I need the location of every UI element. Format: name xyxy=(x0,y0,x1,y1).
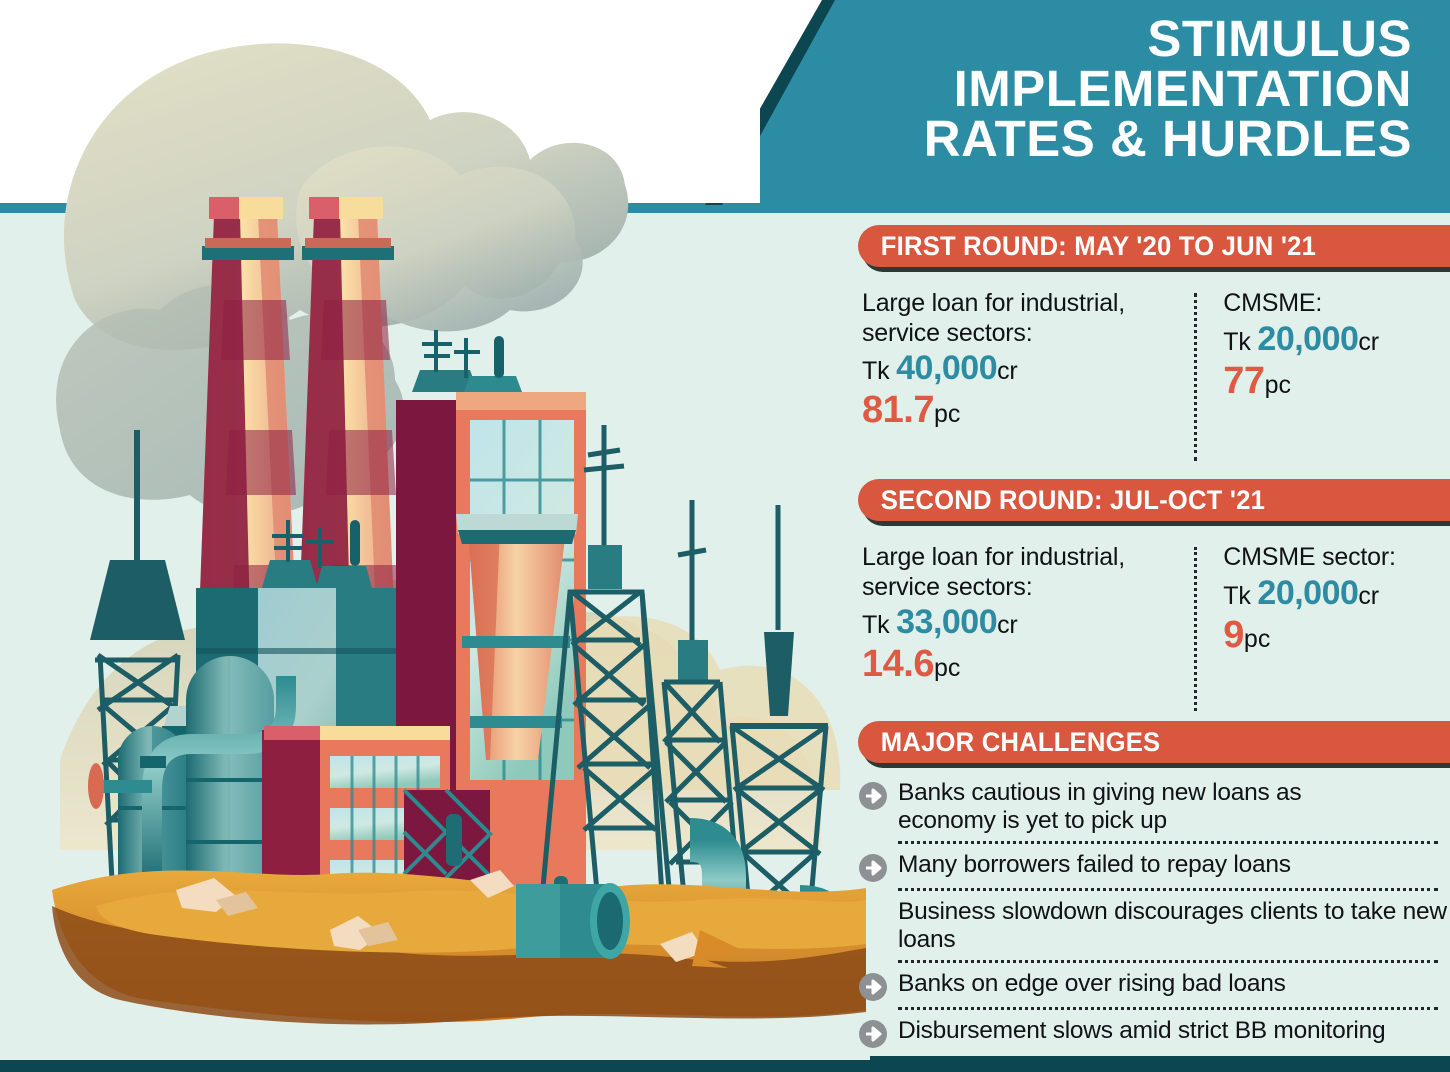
large-loan-label: Large loan for industrial,service sector… xyxy=(862,543,1161,602)
arrow-right-circle-icon xyxy=(858,849,898,883)
ground xyxy=(52,870,866,1024)
list-item: Banks cautious in giving new loans as ec… xyxy=(858,777,1450,836)
amount-value: 20,000 xyxy=(1257,320,1358,358)
list-item: Business slowdown discourages clients to… xyxy=(858,896,1450,955)
amount-unit: cr xyxy=(1358,328,1378,356)
percent-value: 81.7 xyxy=(862,389,934,431)
second-round-large-loan: Large loan for industrial,service sector… xyxy=(858,543,1161,719)
currency-label: Tk xyxy=(1223,582,1250,610)
cmsme-amount: Tk 20,000cr xyxy=(1223,573,1450,614)
amount-unit: cr xyxy=(1358,582,1378,610)
list-divider xyxy=(898,1007,1438,1010)
percent-value: 9 xyxy=(1223,614,1244,656)
laid-pipe xyxy=(516,883,630,959)
large-loan-amount: Tk 40,000cr xyxy=(862,348,1161,389)
cmsme-amount: Tk 20,000cr xyxy=(1223,319,1450,360)
section-bar-second-round: SECOND ROUND: JUL-OCT '21 xyxy=(858,479,1450,521)
cmsme-label: CMSME sector: xyxy=(1223,543,1450,573)
challenges-list: Banks cautious in giving new loans as ec… xyxy=(858,777,1450,1049)
section-bar-label: SECOND ROUND: JUL-OCT '21 xyxy=(858,485,1265,516)
percent-value: 77 xyxy=(1223,360,1264,402)
cmsme-percent: 77pc xyxy=(1223,360,1450,404)
percent-unit: pc xyxy=(934,400,960,428)
arrow-placeholder xyxy=(858,896,898,900)
currency-label: Tk xyxy=(862,611,889,639)
large-loan-label: Large loan for industrial,service sector… xyxy=(862,289,1161,348)
section-bar-first-round: FIRST ROUND: MAY '20 TO JUN '21 xyxy=(858,225,1450,267)
amount-unit: cr xyxy=(997,611,1017,639)
list-divider xyxy=(898,960,1438,963)
section-bar-major-challenges: MAJOR CHALLENGES xyxy=(858,721,1450,763)
cmsme-label: CMSME: xyxy=(1223,289,1450,319)
second-round-cmsme: CMSME sector: Tk 20,000cr 9pc xyxy=(1161,543,1450,719)
second-round-body: Large loan for industrial,service sector… xyxy=(858,543,1450,719)
list-item-text: Business slowdown discourages clients to… xyxy=(898,896,1450,955)
amount-value: 33,000 xyxy=(896,603,997,641)
arrow-right-circle-icon xyxy=(858,1015,898,1049)
first-round-large-loan: Large loan for industrial,service sector… xyxy=(858,289,1161,469)
data-panel: FIRST ROUND: MAY '20 TO JUN '21 Large lo… xyxy=(858,225,1450,1045)
list-item-text: Many borrowers failed to repay loans xyxy=(898,849,1291,879)
list-item: Banks on edge over rising bad loans xyxy=(858,968,1450,1002)
section-bar-label: MAJOR CHALLENGES xyxy=(858,727,1160,758)
infographic-page: STIMULUS IMPLEMENTATION RATES & HURDLES … xyxy=(0,0,1450,1072)
arrow-right-circle-icon xyxy=(858,968,898,1002)
amount-value: 20,000 xyxy=(1257,574,1358,612)
list-item: Disbursement slows amid strict BB monito… xyxy=(858,1015,1450,1049)
amount-value: 40,000 xyxy=(896,349,997,387)
arrow-right-circle-icon xyxy=(858,777,898,811)
percent-unit: pc xyxy=(934,654,960,682)
section-bar-label: FIRST ROUND: MAY '20 TO JUN '21 xyxy=(858,231,1316,262)
list-item-text: Disbursement slows amid strict BB monito… xyxy=(898,1015,1385,1045)
list-divider xyxy=(898,841,1438,844)
large-loan-amount: Tk 33,000cr xyxy=(862,602,1161,643)
percent-unit: pc xyxy=(1265,371,1291,399)
first-round-cmsme: CMSME: Tk 20,000cr 77pc xyxy=(1161,289,1450,469)
currency-label: Tk xyxy=(862,357,889,385)
percent-unit: pc xyxy=(1244,625,1270,653)
currency-label: Tk xyxy=(1223,328,1250,356)
large-loan-percent: 81.7pc xyxy=(862,389,1161,433)
first-round-body: Large loan for industrial,service sector… xyxy=(858,289,1450,469)
list-item-text: Banks cautious in giving new loans as ec… xyxy=(898,777,1368,836)
factory-illustration: Flat-style illustration of an industrial… xyxy=(0,0,870,1060)
list-item-text: Banks on edge over rising bad loans xyxy=(898,968,1286,998)
large-loan-percent: 14.6pc xyxy=(862,643,1161,687)
percent-value: 14.6 xyxy=(862,643,934,685)
cmsme-percent: 9pc xyxy=(1223,614,1450,658)
amount-unit: cr xyxy=(997,357,1017,385)
list-item: Many borrowers failed to repay loans xyxy=(858,849,1450,883)
list-divider xyxy=(898,888,1438,891)
